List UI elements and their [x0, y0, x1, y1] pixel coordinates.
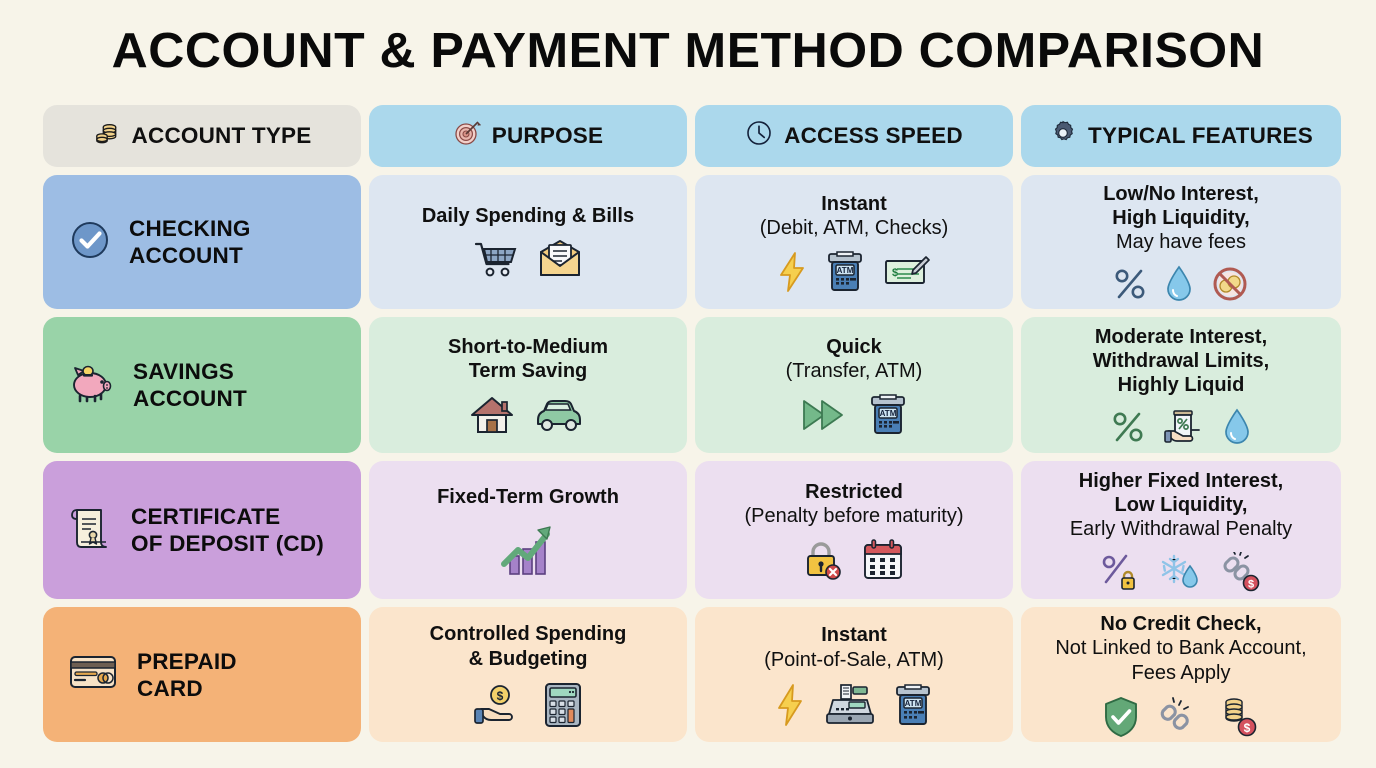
check-circle-icon [69, 219, 111, 266]
header-typical-features: TYPICAL FEATURES [1021, 105, 1341, 167]
water-droplet-icon [1223, 408, 1251, 446]
cell-savings-access: Quick (Transfer, ATM) ATM [695, 317, 1013, 453]
cell-text: Higher Fixed Interest, Low Liquidity, Ea… [1070, 469, 1292, 542]
header-account-type: ACCOUNT TYPE [43, 105, 361, 167]
row-label-savings-account: SAVINGSACCOUNT [43, 317, 361, 453]
cell-icons: $ [1100, 552, 1262, 592]
percent-lock-icon [1100, 553, 1140, 591]
cell-cd-access: Restricted (Penalty before maturity) [695, 461, 1013, 599]
coins-stack-icon [93, 119, 121, 153]
cell-prepaid-access: Instant (Point-of-Sale, ATM) [695, 607, 1013, 742]
broken-chain-dollar-icon: $ [1220, 552, 1262, 592]
cell-text: Daily Spending & Bills [422, 204, 634, 228]
header-label: TYPICAL FEATURES [1088, 123, 1313, 149]
comparison-grid: ACCOUNT TYPE PURPOSE ACCE [43, 105, 1333, 742]
header-access-speed: ACCESS SPEED [695, 105, 1013, 167]
hand-with-coin-icon: $ [473, 683, 525, 727]
credit-card-icon [69, 653, 119, 696]
envelope-mail-icon [537, 239, 583, 281]
cell-text: Restricted (Penalty before maturity) [745, 480, 964, 528]
coins-dollar-fees-icon: $ [1215, 696, 1259, 738]
svg-text:$: $ [497, 689, 504, 703]
bank-check-icon: $ [883, 251, 931, 293]
cell-icons [469, 394, 587, 436]
cell-icons [804, 539, 904, 581]
row-label-text: PREPAIDCARD [137, 648, 237, 702]
cell-icons [1113, 265, 1249, 303]
water-droplet-icon [1165, 265, 1193, 303]
row-label-text: SAVINGSACCOUNT [133, 358, 247, 412]
cell-prepaid-features: No Credit Check, Not Linked to Bank Acco… [1021, 607, 1341, 742]
cell-savings-features: Moderate Interest, Withdrawal Limits, Hi… [1021, 317, 1341, 453]
cell-savings-purpose: Short-to-Medium Term Saving [369, 317, 687, 453]
svg-text:ATM: ATM [837, 266, 854, 275]
target-dartboard-icon [453, 119, 481, 153]
calculator-icon [543, 682, 583, 728]
cell-text: Low/No Interest, High Liquidity, May hav… [1103, 182, 1259, 255]
cell-checking-features: Low/No Interest, High Liquidity, May hav… [1021, 175, 1341, 309]
growth-chart-arrow-icon [498, 520, 558, 576]
shopping-cart-icon [473, 239, 519, 281]
clock-icon [745, 119, 773, 153]
certificate-scroll-icon [69, 505, 113, 556]
cell-icons [473, 239, 583, 281]
atm-machine-icon: ATM [868, 394, 908, 436]
shield-check-icon [1103, 696, 1139, 738]
calendar-icon [862, 539, 904, 581]
row-label-prepaid-card: PREPAIDCARD [43, 607, 361, 742]
cell-text: Moderate Interest, Withdrawal Limits, Hi… [1093, 325, 1270, 398]
piggy-bank-icon [69, 362, 115, 409]
cell-text: Fixed-Term Growth [437, 485, 619, 509]
lightning-bolt-icon [775, 683, 805, 727]
broken-chain-icon [1157, 697, 1197, 737]
row-label-certificate-of-deposit: CERTIFICATEOF DEPOSIT (CD) [43, 461, 361, 599]
percent-icon [1113, 266, 1147, 302]
cell-icons: ATM $ [777, 251, 931, 293]
header-label: ACCOUNT TYPE [132, 123, 312, 149]
cell-checking-access: Instant (Debit, ATM, Checks) ATM [695, 175, 1013, 309]
cell-text: Controlled Spending & Budgeting [430, 622, 627, 670]
lightning-bolt-icon [777, 251, 807, 293]
car-icon [533, 396, 587, 434]
lock-with-x-icon [804, 539, 844, 581]
svg-text:$: $ [1244, 721, 1251, 735]
cell-text: No Credit Check, Not Linked to Bank Acco… [1055, 612, 1306, 685]
no-fees-prohibited-icon [1211, 265, 1249, 303]
cell-icons [498, 520, 558, 576]
house-icon [469, 394, 515, 436]
cell-icons: ATM [775, 683, 933, 727]
gear-icon [1049, 119, 1077, 153]
header-label: PURPOSE [492, 123, 603, 149]
row-label-checking-account: CHECKINGACCOUNT [43, 175, 361, 309]
cell-icons: ATM [800, 394, 908, 436]
cell-text: Instant (Debit, ATM, Checks) [760, 192, 949, 240]
cell-cd-purpose: Fixed-Term Growth [369, 461, 687, 599]
cell-icons [1111, 408, 1251, 446]
cell-checking-purpose: Daily Spending & Bills [369, 175, 687, 309]
header-purpose: PURPOSE [369, 105, 687, 167]
cell-text: Instant (Point-of-Sale, ATM) [764, 623, 944, 671]
svg-text:$: $ [1248, 579, 1254, 591]
frozen-droplet-snowflake-icon [1158, 552, 1202, 592]
cell-text: Quick (Transfer, ATM) [786, 335, 923, 383]
header-label: ACCESS SPEED [784, 123, 963, 149]
row-label-text: CHECKINGACCOUNT [129, 215, 251, 269]
cell-icons: $ [473, 682, 583, 728]
fast-forward-arrows-icon [800, 396, 850, 434]
withdrawal-jar-hand-icon [1163, 408, 1205, 446]
svg-text:ATM: ATM [880, 409, 897, 418]
cell-icons: $ [1103, 696, 1259, 738]
svg-text:ATM: ATM [905, 699, 922, 708]
cash-register-icon [823, 683, 875, 727]
cell-cd-features: Higher Fixed Interest, Low Liquidity, Ea… [1021, 461, 1341, 599]
page-title: ACCOUNT & PAYMENT METHOD COMPARISON [0, 0, 1376, 76]
atm-machine-icon: ATM [825, 251, 865, 293]
infographic-page: ACCOUNT & PAYMENT METHOD COMPARISON [0, 0, 1376, 768]
cell-prepaid-purpose: Controlled Spending & Budgeting $ [369, 607, 687, 742]
row-label-text: CERTIFICATEOF DEPOSIT (CD) [131, 503, 324, 557]
atm-machine-icon: ATM [893, 683, 933, 727]
percent-icon [1111, 409, 1145, 445]
cell-text: Short-to-Medium Term Saving [448, 335, 608, 383]
